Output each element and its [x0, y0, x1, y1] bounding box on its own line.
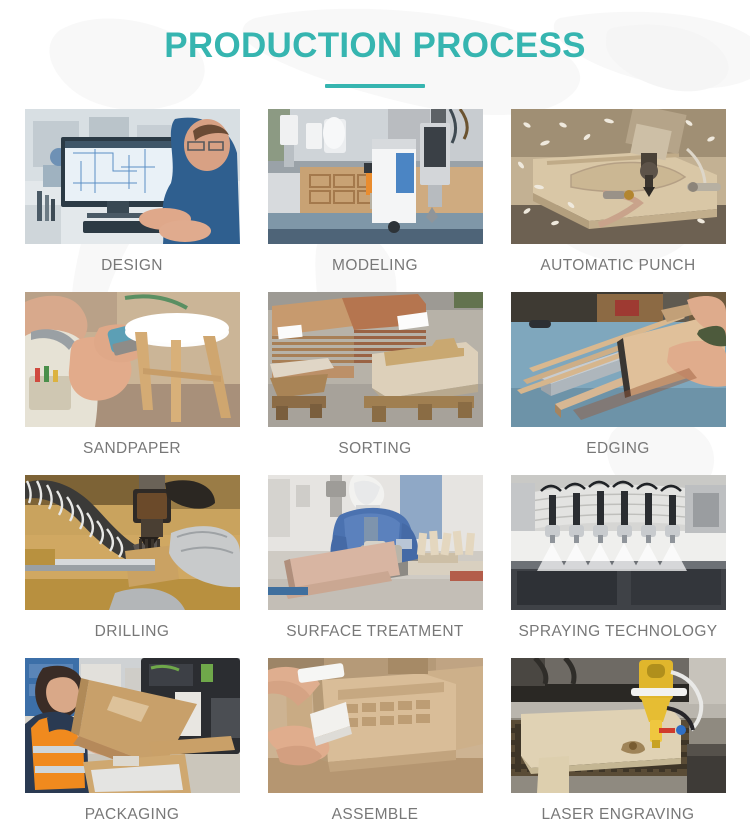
process-thumbnail-spraying-technology[interactable]: [511, 475, 726, 610]
process-thumbnail-modeling[interactable]: [268, 109, 483, 244]
process-thumbnail-drilling[interactable]: [25, 475, 240, 610]
process-grid: DESIGN: [0, 109, 750, 835]
process-card[interactable]: MODELING: [268, 109, 483, 286]
process-label: SANDPAPER: [25, 427, 240, 469]
process-thumbnail-packaging[interactable]: [25, 658, 240, 793]
process-card[interactable]: PACKAGING: [25, 658, 240, 835]
process-thumbnail-laser-engraving[interactable]: [511, 658, 726, 793]
process-thumbnail-sorting[interactable]: [268, 292, 483, 427]
process-card[interactable]: SURFACE TREATMENT: [268, 475, 483, 652]
process-label: SURFACE TREATMENT: [268, 610, 483, 652]
process-card[interactable]: DESIGN: [25, 109, 240, 286]
process-label: DESIGN: [25, 244, 240, 286]
process-thumbnail-design[interactable]: [25, 109, 240, 244]
production-process-page: PRODUCTION PROCESS: [0, 0, 750, 829]
process-label: EDGING: [511, 427, 726, 469]
process-label: SPRAYING TECHNOLOGY: [511, 610, 726, 652]
process-label: MODELING: [268, 244, 483, 286]
process-thumbnail-sandpaper[interactable]: [25, 292, 240, 427]
process-card[interactable]: SORTING: [268, 292, 483, 469]
page-header: PRODUCTION PROCESS: [0, 0, 750, 88]
process-card[interactable]: SANDPAPER: [25, 292, 240, 469]
process-card[interactable]: AUTOMATIC PUNCH: [511, 109, 726, 286]
process-card[interactable]: EDGING: [511, 292, 726, 469]
process-label: DRILLING: [25, 610, 240, 652]
process-thumbnail-automatic-punch[interactable]: [511, 109, 726, 244]
process-card[interactable]: ASSEMBLE: [268, 658, 483, 835]
title-underline: [325, 84, 425, 88]
process-card[interactable]: SPRAYING TECHNOLOGY: [511, 475, 726, 652]
process-label: SORTING: [268, 427, 483, 469]
process-card[interactable]: LASER ENGRAVING: [511, 658, 726, 835]
page-title: PRODUCTION PROCESS: [0, 26, 750, 66]
process-thumbnail-surface-treatment[interactable]: [268, 475, 483, 610]
process-thumbnail-assemble[interactable]: [268, 658, 483, 793]
process-card[interactable]: DRILLING: [25, 475, 240, 652]
process-label: AUTOMATIC PUNCH: [511, 244, 726, 286]
process-thumbnail-edging[interactable]: [511, 292, 726, 427]
